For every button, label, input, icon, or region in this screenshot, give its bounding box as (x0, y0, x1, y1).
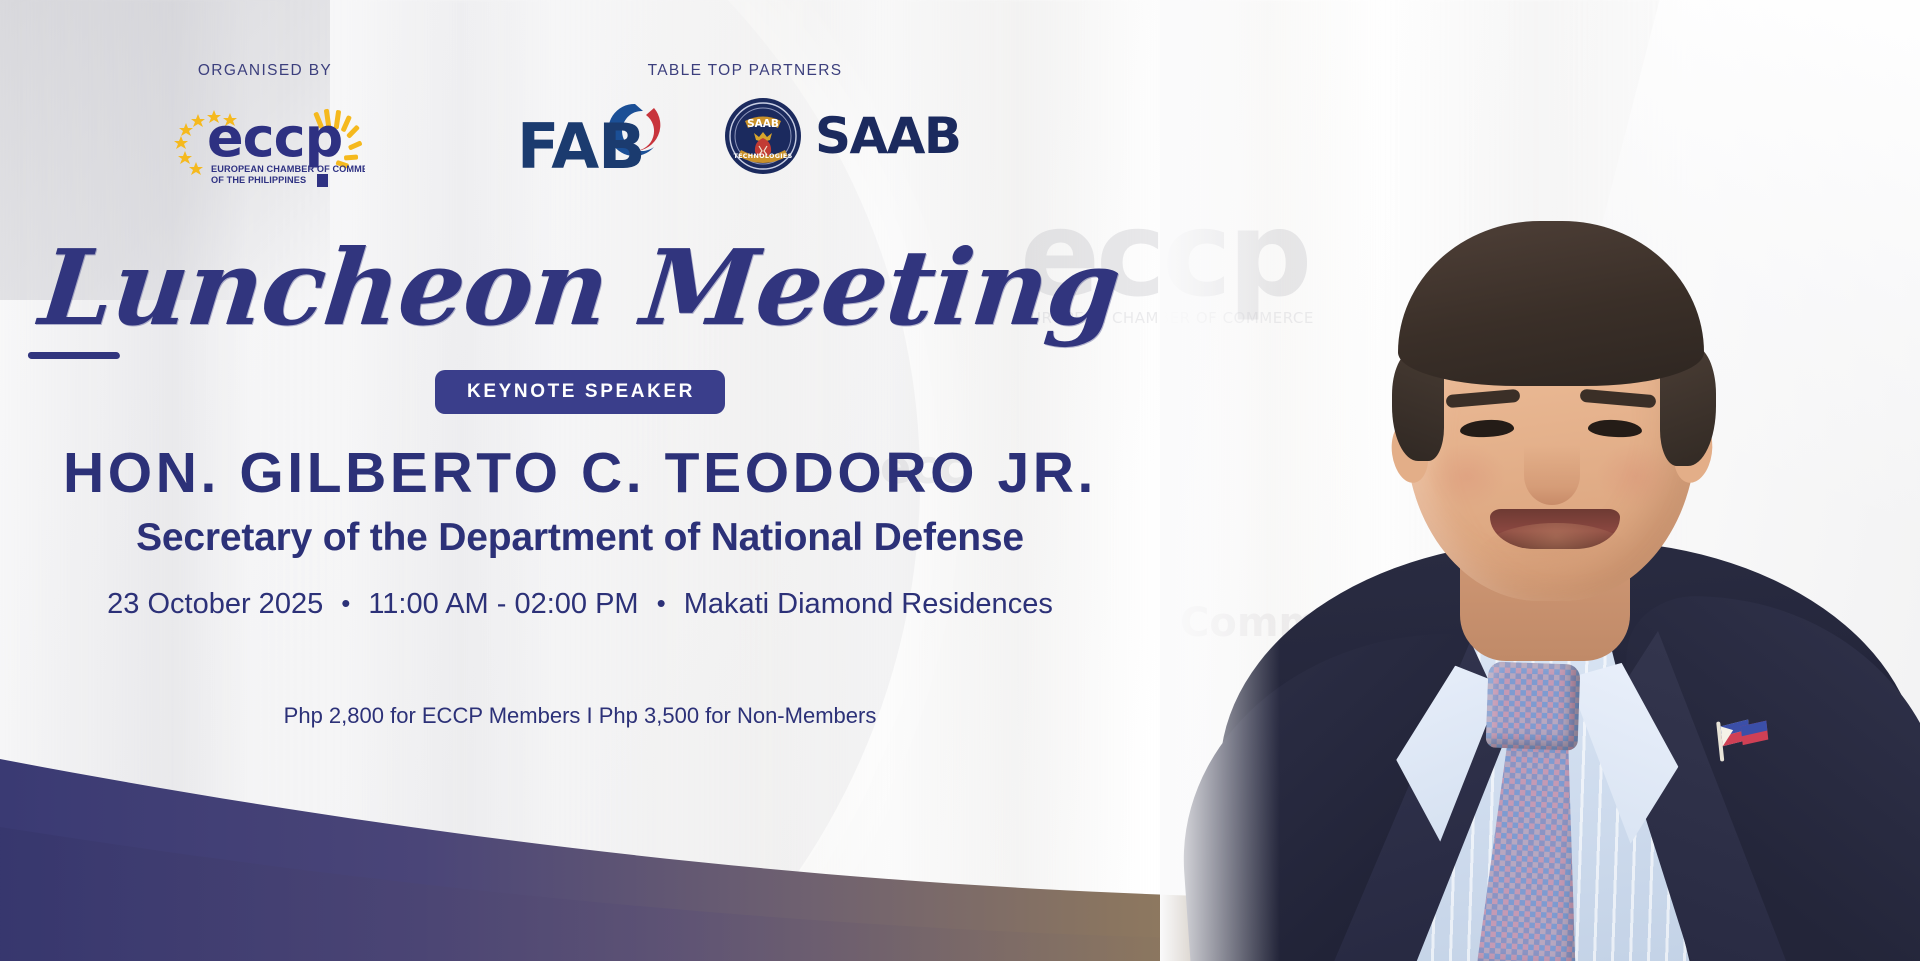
event-time: 11:00 AM - 02:00 PM (368, 588, 638, 621)
event-date: 23 October 2025 (107, 588, 323, 621)
nose (1524, 445, 1580, 505)
event-separator-2: • (657, 590, 666, 616)
speaker-role: Secretary of the Department of National … (136, 516, 1024, 560)
event-title-script: Luncheon Meeting (36, 236, 1125, 340)
event-banner: eccp EUROPEAN CHAMBER OF COMMERCE ecc Co… (0, 0, 1920, 961)
event-details: 23 October 2025 • 11:00 AM - 02:00 PM • … (107, 588, 1053, 621)
event-separator-1: • (341, 590, 350, 616)
main-content: Luncheon Meeting KEYNOTE SPEAKER HON. GI… (0, 0, 1160, 961)
chin-shadow (1476, 523, 1636, 593)
speaker-photo (1160, 0, 1920, 961)
speaker-name: HON. GILBERTO C. TEODORO JR. (63, 440, 1097, 506)
cheek-left (1428, 443, 1506, 509)
keynote-speaker-badge: KEYNOTE SPEAKER (435, 370, 725, 414)
cheek-right (1596, 443, 1674, 509)
pricing-info: Php 2,800 for ECCP Members I Php 3,500 f… (284, 703, 877, 729)
hair (1398, 221, 1704, 386)
event-venue: Makati Diamond Residences (684, 588, 1053, 621)
necktie-knot (1486, 661, 1581, 750)
event-title-rest: uncheon Meeting (107, 226, 1126, 349)
philippine-flag-pin-icon (1714, 712, 1775, 764)
event-title-initial: L (35, 226, 120, 349)
